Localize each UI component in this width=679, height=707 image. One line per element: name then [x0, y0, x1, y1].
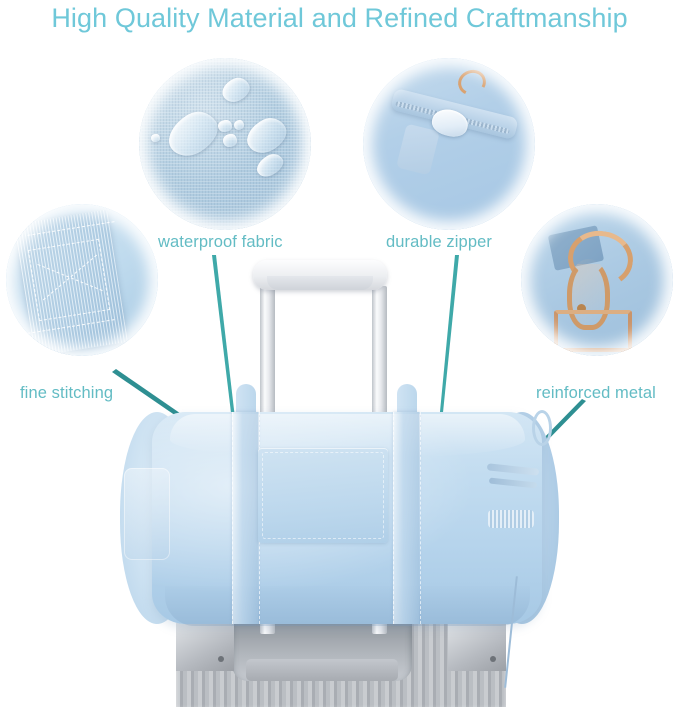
trolley-handle-grip — [253, 260, 387, 290]
side-grab-handle — [488, 510, 534, 528]
callout-label-waterproof-fabric: waterproof fabric — [158, 233, 283, 252]
callout-label-durable-zipper: durable zipper — [386, 233, 492, 252]
callout-label-fine-stitching: fine stitching — [20, 384, 113, 403]
callout-label-reinforced-metal: reinforced metal — [536, 384, 656, 403]
suitcase-corner-guard — [448, 619, 506, 671]
product-photo — [0, 390, 679, 707]
suitcase-corner-guard — [176, 619, 234, 671]
hanging-loop — [532, 410, 552, 446]
screw-icon — [218, 656, 224, 662]
sleeve-stitching — [262, 452, 384, 539]
suitcase-handle-plate — [246, 659, 398, 681]
trolley-sleeve-panel — [258, 448, 388, 543]
strap-stitching — [393, 412, 421, 624]
screw-icon — [490, 656, 496, 662]
infographic-canvas: High Quality Material and Refined Craftm… — [0, 0, 679, 707]
strap-stitching — [232, 412, 260, 624]
side-pocket — [124, 468, 170, 560]
bag-bottom-shadow — [165, 586, 530, 626]
